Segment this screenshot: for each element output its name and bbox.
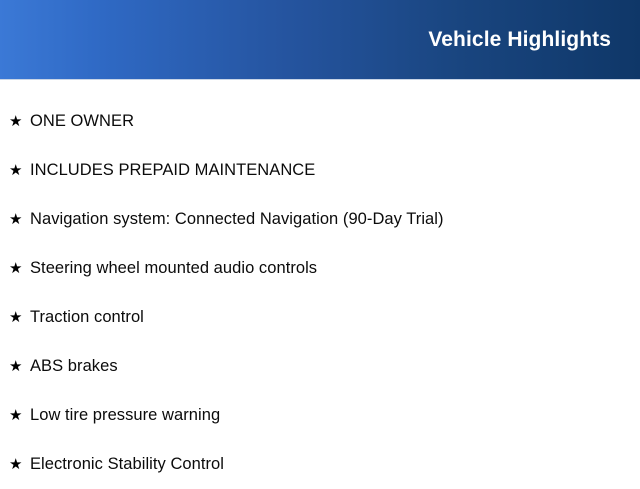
list-item: ★ ABS brakes <box>0 342 640 391</box>
list-item: ★ Traction control <box>0 293 640 342</box>
highlight-label: Electronic Stability Control <box>30 455 640 473</box>
list-item: ★ Low tire pressure warning <box>0 391 640 440</box>
star-icon: ★ <box>9 408 30 423</box>
highlight-label: Navigation system: Connected Navigation … <box>30 210 640 228</box>
highlight-label: Traction control <box>30 308 640 326</box>
list-item: ★ Navigation system: Connected Navigatio… <box>0 195 640 244</box>
star-icon: ★ <box>9 114 30 129</box>
page-header-banner: Vehicle Highlights <box>0 0 640 79</box>
page-title: Vehicle Highlights <box>428 29 611 50</box>
star-icon: ★ <box>9 457 30 472</box>
list-item: ★ INCLUDES PREPAID MAINTENANCE <box>0 146 640 195</box>
star-icon: ★ <box>9 310 30 325</box>
highlight-label: ONE OWNER <box>30 112 640 130</box>
list-item: ★ Electronic Stability Control <box>0 440 640 489</box>
highlight-label: Low tire pressure warning <box>30 406 640 424</box>
vehicle-highlights-page: Vehicle Highlights ★ ONE OWNER ★ INCLUDE… <box>0 0 640 480</box>
list-item: ★ Steering wheel mounted audio controls <box>0 244 640 293</box>
highlight-label: INCLUDES PREPAID MAINTENANCE <box>30 161 640 179</box>
star-icon: ★ <box>9 212 30 227</box>
highlight-label: Steering wheel mounted audio controls <box>30 259 640 277</box>
highlight-label: ABS brakes <box>30 357 640 375</box>
star-icon: ★ <box>9 359 30 374</box>
star-icon: ★ <box>9 261 30 276</box>
list-item: ★ ONE OWNER <box>0 97 640 146</box>
star-icon: ★ <box>9 163 30 178</box>
vehicle-highlights-list: ★ ONE OWNER ★ INCLUDES PREPAID MAINTENAN… <box>0 80 640 489</box>
